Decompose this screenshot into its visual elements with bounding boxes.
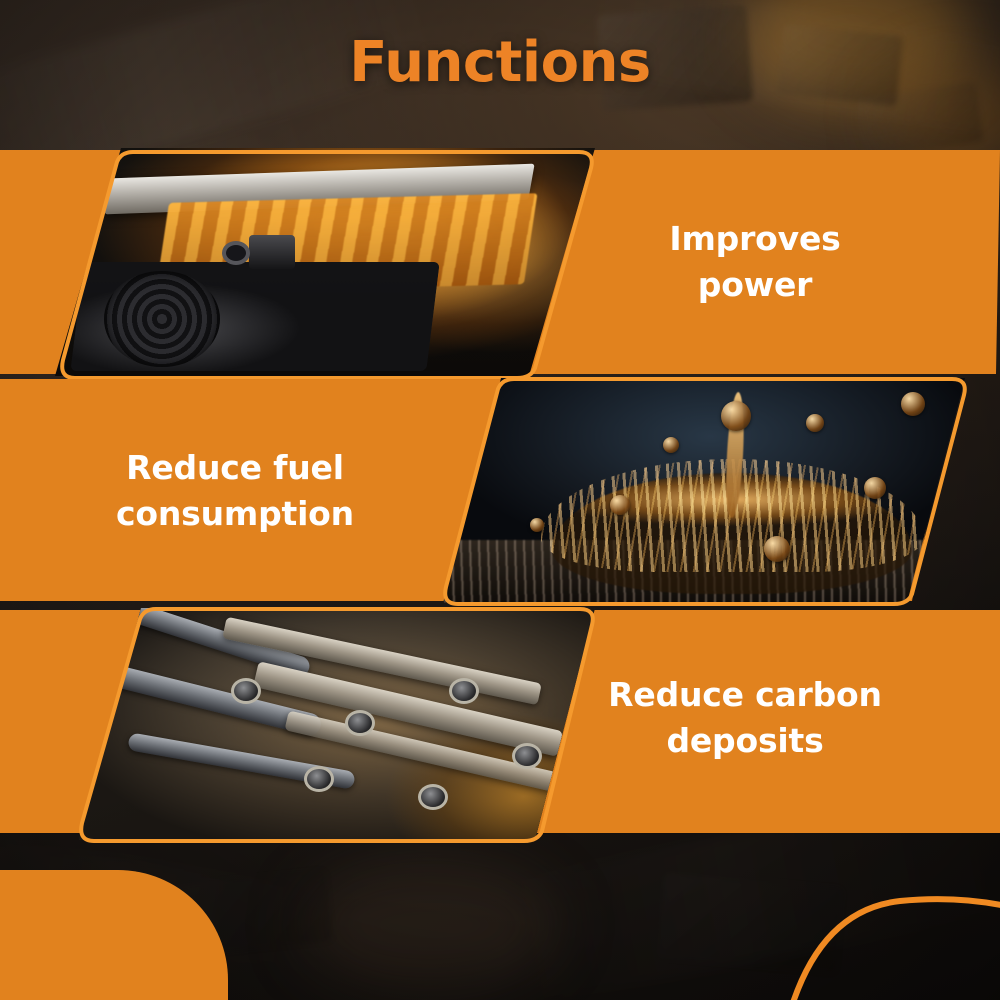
cylinder-head-photo	[75, 608, 595, 840]
oil-droplet	[901, 392, 925, 416]
infographic-poster: Functions Improves power	[0, 0, 1000, 1000]
feature-image-reduce-carbon-deposits	[75, 608, 595, 840]
feature-label-reduce-fuel-consumption: Reduce fuel consumption	[100, 445, 370, 536]
feature-label-reduce-carbon-deposits: Reduce carbon deposits	[580, 672, 910, 763]
oil-droplet	[721, 401, 751, 431]
engine-bolt	[449, 678, 479, 704]
engine-bolt	[304, 766, 334, 792]
oil-droplet	[806, 414, 824, 432]
oil-droplet	[610, 495, 630, 515]
page-title: Functions	[0, 30, 1000, 95]
oil-droplet	[764, 536, 790, 562]
oil-droplet	[663, 437, 679, 453]
oil-droplet	[530, 518, 544, 532]
engine-cutaway-photo	[55, 148, 595, 376]
feature-label-improves-power: Improves power	[620, 216, 890, 307]
engine-pulley	[104, 271, 220, 367]
feature-image-reduce-fuel-consumption	[435, 378, 965, 603]
engine-cap	[249, 235, 295, 269]
engine-bolt	[512, 743, 542, 769]
feature-image-improves-power	[55, 148, 595, 376]
oil-splash-photo	[435, 378, 965, 603]
engine-bolt	[231, 678, 261, 704]
